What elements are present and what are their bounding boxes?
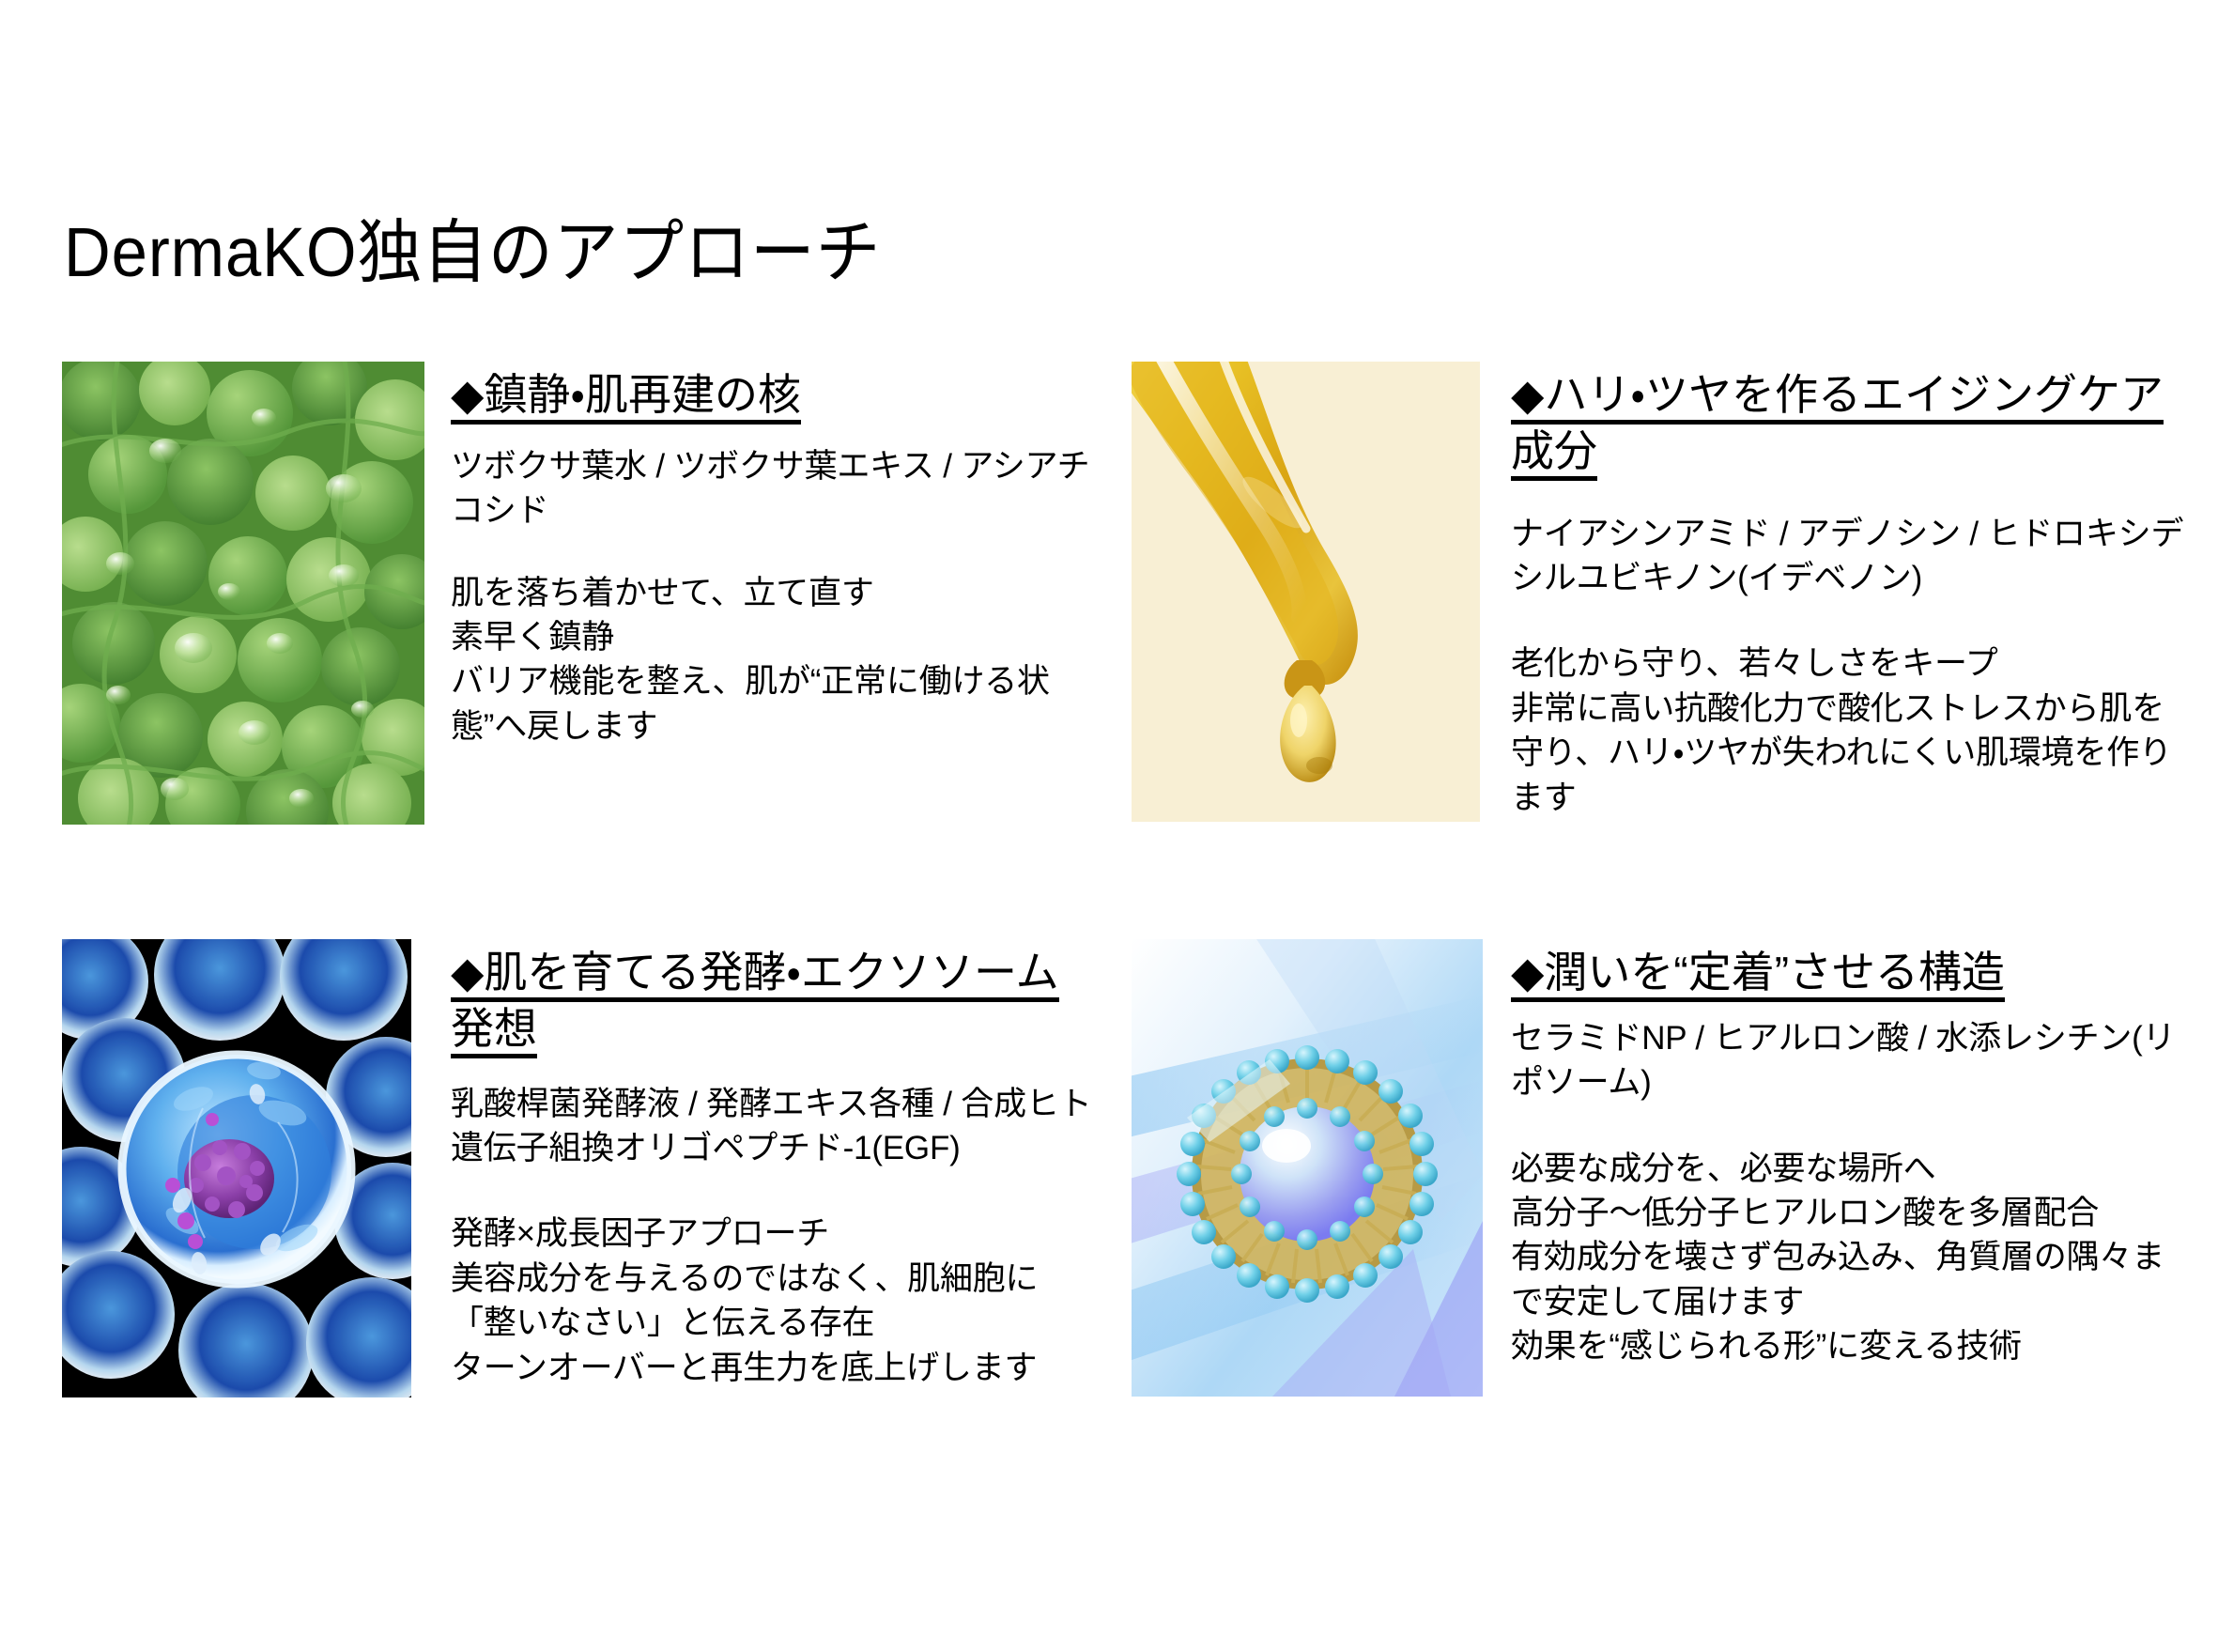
panel-ingredients: 乳酸桿菌発酵液 / 発酵エキス各種 / 合成ヒト遺伝子組換オリゴペプチド-1(E… bbox=[451, 1082, 1099, 1171]
panel-ingredients: ナイアシンアミド / アデノシン / ヒドロキシデシルユビキノン(イデベノン) bbox=[1511, 512, 2187, 601]
panel-heading: ◆潤いを“定着”させる構造 bbox=[1511, 945, 2187, 1001]
liposome-cross-section-render bbox=[1132, 939, 1483, 1397]
panel-text-soothing-core: ◆鎮静・肌再建の核 ツボクサ葉水 / ツボクサ葉エキス / アシアチコシド 肌を… bbox=[451, 362, 1099, 749]
panel-benefits: 老化から守り、若々しさをキープ 非常に高い抗酸化力で酸化ストレスから肌を守り、ハ… bbox=[1511, 641, 2187, 820]
panel-benefits: 必要な成分を、必要な場所へ 高分子〜低分子ヒアルロン酸を多層配合 有効成分を壊さ… bbox=[1511, 1147, 2187, 1369]
panel-text-fermentation-exosome: ◆肌を育てる発酵・エクソソーム発想 乳酸桿菌発酵液 / 発酵エキス各種 / 合成… bbox=[451, 939, 1099, 1390]
blue-cells-microscope-render bbox=[62, 939, 411, 1397]
panel-heading: ◆鎮静・肌再建の核 bbox=[451, 367, 1099, 424]
centella-leaves-photo bbox=[62, 362, 424, 825]
golden-oil-drip-photo bbox=[1132, 362, 1480, 822]
panel-benefits: 発酵×成長因子アプローチ 美容成分を与えるのではなく、肌細胞に「整いなさい」と伝… bbox=[451, 1212, 1099, 1390]
panel-heading: ◆肌を育てる発酵・エクソソーム発想 bbox=[451, 945, 1099, 1058]
panel-ingredients: セラミドNP / ヒアルロン酸 / 水添レシチン(リポソーム) bbox=[1511, 1016, 2187, 1105]
panel-ingredients: ツボクサ葉水 / ツボクサ葉エキス / アシアチコシド bbox=[451, 444, 1099, 533]
panel-heading: ◆ハリ・ツヤを作るエイジングケア成分 bbox=[1511, 367, 2187, 480]
panel-text-aging-care: ◆ハリ・ツヤを作るエイジングケア成分 ナイアシンアミド / アデノシン / ヒド… bbox=[1511, 362, 2187, 820]
panel-benefits: 肌を落ち着かせて、立て直す 素早く鎮静 バリア機能を整え、肌が“正常に働ける状態… bbox=[451, 571, 1099, 749]
page-title: DermaKO独自のアプローチ bbox=[64, 218, 881, 287]
panel-text-moisture-structure: ◆潤いを“定着”させる構造 セラミドNP / ヒアルロン酸 / 水添レシチン(リ… bbox=[1511, 939, 2187, 1369]
